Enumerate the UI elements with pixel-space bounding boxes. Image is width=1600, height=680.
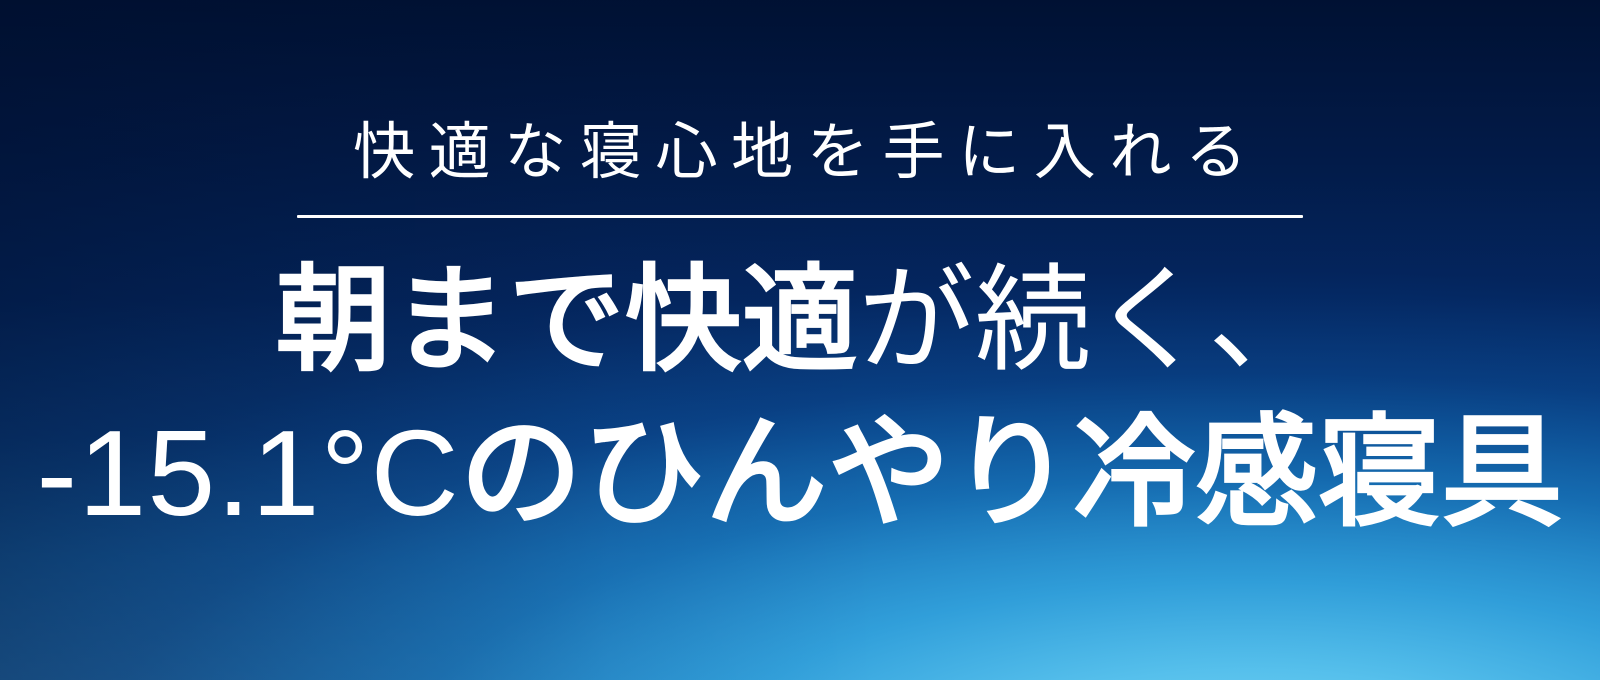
headline-line-1: 朝まで快適が続く、 bbox=[275, 262, 1324, 378]
divider-rule bbox=[297, 215, 1303, 218]
headline-line-1-tail: が続く、 bbox=[858, 255, 1324, 385]
hero-banner: 快適な寝心地を手に入れる 朝まで快適が続く、 -15.1°Cのひんやり冷感寝具 bbox=[0, 0, 1600, 680]
temperature-value: -15.1°C bbox=[36, 405, 460, 541]
headline-line-2: -15.1°Cのひんやり冷感寝具 bbox=[36, 412, 1563, 534]
headline-line-1-emphasis: 朝まで快適 bbox=[275, 255, 858, 385]
eyebrow-text: 快適な寝心地を手に入れる bbox=[339, 120, 1260, 185]
hero-content: 快適な寝心地を手に入れる 朝まで快適が続く、 -15.1°Cのひんやり冷感寝具 bbox=[0, 0, 1600, 680]
headline-block: 朝まで快適が続く、 -15.1°Cのひんやり冷感寝具 bbox=[36, 262, 1563, 534]
headline-line-2-tail: のひんやり冷感寝具 bbox=[460, 405, 1564, 541]
